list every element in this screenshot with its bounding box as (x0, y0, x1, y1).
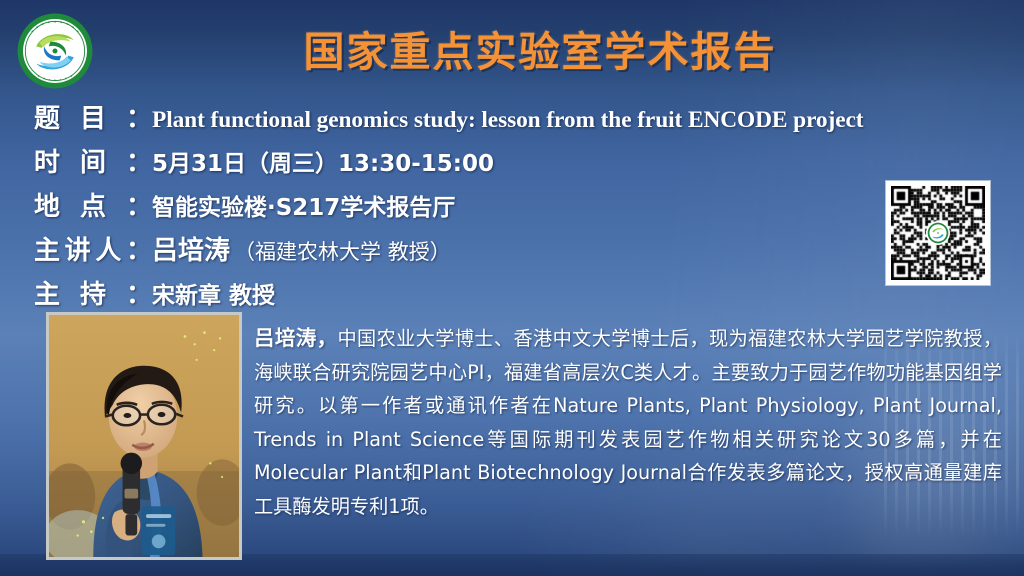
bio-separator: ， (317, 326, 338, 350)
bio-body-text: 中国农业大学博士、香港中文大学博士后，现为福建农林大学园艺学院教授，海峡联合研究… (254, 327, 1002, 518)
info-value-speaker-affiliation: （福建农林大学 教授） (234, 236, 451, 266)
speaker-portrait (46, 312, 242, 560)
qr-center-logo-icon (926, 221, 950, 245)
speaker-bio: 吕培涛，中国农业大学博士、香港中文大学博士后，现为福建农林大学园艺学院教授，海峡… (254, 322, 1002, 523)
info-label-time: 时 间 ： (34, 142, 152, 179)
info-row-place: 地 点 ： 智能实验楼·S217学术报告厅 (34, 186, 994, 230)
label-char: 点 (80, 186, 106, 223)
label-char: 主 (34, 274, 60, 311)
label-char: 人 (95, 230, 121, 267)
info-label-place: 地 点 ： (34, 186, 152, 223)
label-char: 间 (80, 142, 106, 179)
info-value-host: 宋新章 教授 (152, 276, 275, 310)
info-value-speaker-name: 吕培涛 (152, 230, 230, 267)
label-char: 目 (80, 98, 106, 135)
label-char: ： (126, 274, 152, 311)
info-label-speaker: 主 讲 人 ： (34, 230, 152, 267)
wechat-qr-code[interactable] (886, 181, 990, 285)
bio-speaker-name: 吕培涛 (254, 326, 317, 350)
label-char: 持 (80, 274, 106, 311)
info-block: 题 目 ： Plant functional genomics study: l… (34, 98, 994, 318)
label-char: 时 (34, 142, 60, 179)
info-label-title: 题 目 ： (34, 98, 152, 135)
label-char: ： (126, 230, 152, 267)
info-value-place: 智能实验楼·S217学术报告厅 (152, 188, 455, 222)
label-char: 题 (34, 98, 60, 135)
info-row-speaker: 主 讲 人 ： 吕培涛 （福建农林大学 教授） (34, 230, 994, 274)
info-value-time: 5月31日（周三）13:30-15:00 (152, 144, 494, 178)
state-key-laboratory-logo-icon (16, 12, 94, 90)
label-char: 主 (34, 230, 60, 267)
label-char: ： (126, 142, 152, 179)
label-char: ： (126, 98, 152, 135)
poster-title: 国家重点实验室学术报告 (190, 18, 890, 78)
info-row-time: 时 间 ： 5月31日（周三）13:30-15:00 (34, 142, 994, 186)
info-value-title: Plant functional genomics study: lesson … (152, 107, 863, 134)
info-label-host: 主 持 ： (34, 274, 152, 311)
info-row-title: 题 目 ： Plant functional genomics study: l… (34, 98, 994, 142)
label-char: ： (126, 186, 152, 223)
label-char: 讲 (65, 230, 91, 267)
label-char: 地 (34, 186, 60, 223)
seminar-poster: 国家重点实验室学术报告 题 目 ： Plant functional genom… (0, 0, 1024, 576)
